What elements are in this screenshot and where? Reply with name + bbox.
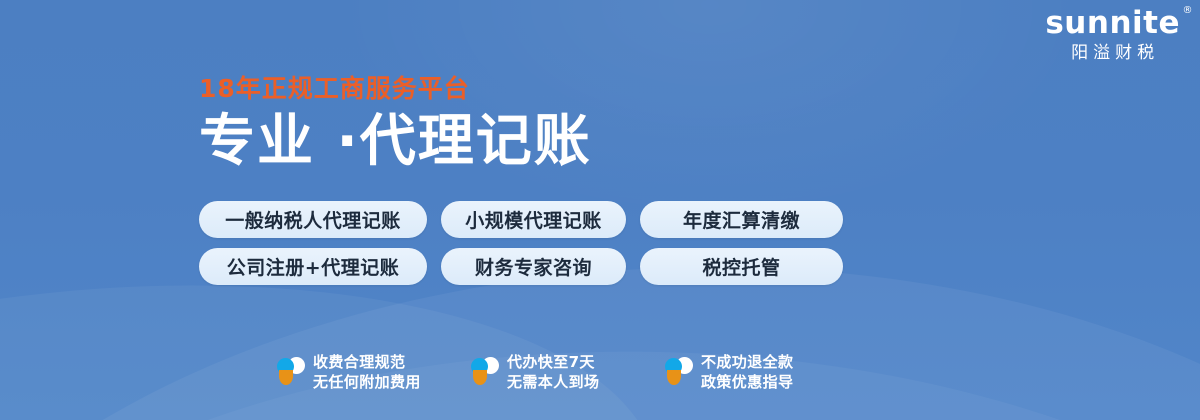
circles-badge-icon — [664, 356, 692, 389]
service-pill-grid: 一般纳税人代理记账 小规模代理记账 年度汇算清缴 公司注册+代理记账 财务专家咨… — [199, 201, 843, 285]
feature-item-speed: 代办快至7天 无需本人到场 — [470, 352, 640, 393]
feature-text: 代办快至7天 无需本人到场 — [507, 352, 599, 393]
eyebrow-text: 18年正规工商服务平台 — [199, 76, 592, 102]
service-pill-small-scale[interactable]: 小规模代理记账 — [441, 201, 626, 238]
feature-line-2: 无任何附加费用 — [313, 373, 421, 391]
circle-orange-shape — [473, 370, 487, 385]
feature-line-1: 不成功退全款 — [701, 353, 793, 371]
page-title: 专业 ·代理记账 — [199, 111, 592, 174]
feature-line-1: 收费合理规范 — [313, 353, 405, 371]
feature-text: 收费合理规范 无任何附加费用 — [313, 352, 421, 393]
circles-badge-icon — [470, 356, 498, 389]
logo-wordmark: sunnite ® — [1045, 8, 1180, 39]
service-pill-annual-settlement[interactable]: 年度汇算清缴 — [640, 201, 843, 238]
service-pill-row: 一般纳税人代理记账 小规模代理记账 年度汇算清缴 — [199, 201, 843, 238]
promo-banner: sunnite ® 阳溢财税 18年正规工商服务平台 专业 ·代理记账 一般纳税… — [0, 0, 1200, 420]
circles-badge-icon — [276, 356, 304, 389]
feature-item-guarantee: 不成功退全款 政策优惠指导 — [664, 352, 834, 393]
feature-line-2: 政策优惠指导 — [701, 373, 793, 391]
service-pill-general-taxpayer[interactable]: 一般纳税人代理记账 — [199, 201, 427, 238]
brand-logo[interactable]: sunnite ® 阳溢财税 — [1045, 8, 1180, 62]
feature-text: 不成功退全款 政策优惠指导 — [701, 352, 793, 393]
circle-orange-shape — [279, 370, 293, 385]
circle-orange-shape — [667, 370, 681, 385]
feature-line-2: 无需本人到场 — [507, 373, 599, 391]
logo-wordmark-text: sunnite — [1045, 5, 1180, 41]
feature-line-1: 代办快至7天 — [507, 353, 595, 371]
service-pill-row: 公司注册+代理记账 财务专家咨询 税控托管 — [199, 248, 843, 285]
service-pill-company-registration[interactable]: 公司注册+代理记账 — [199, 248, 427, 285]
feature-item-pricing: 收费合理规范 无任何附加费用 — [276, 352, 446, 393]
service-pill-tax-control-hosting[interactable]: 税控托管 — [640, 248, 843, 285]
logo-chinese-name: 阳溢财税 — [1045, 45, 1180, 62]
headline-block: 18年正规工商服务平台 专业 ·代理记账 — [199, 76, 592, 174]
feature-strip: 收费合理规范 无任何附加费用 代办快至7天 无需本人到场 不成功退全款 — [276, 352, 834, 393]
service-pill-finance-consulting[interactable]: 财务专家咨询 — [441, 248, 626, 285]
registered-trademark-icon: ® — [1183, 6, 1194, 16]
